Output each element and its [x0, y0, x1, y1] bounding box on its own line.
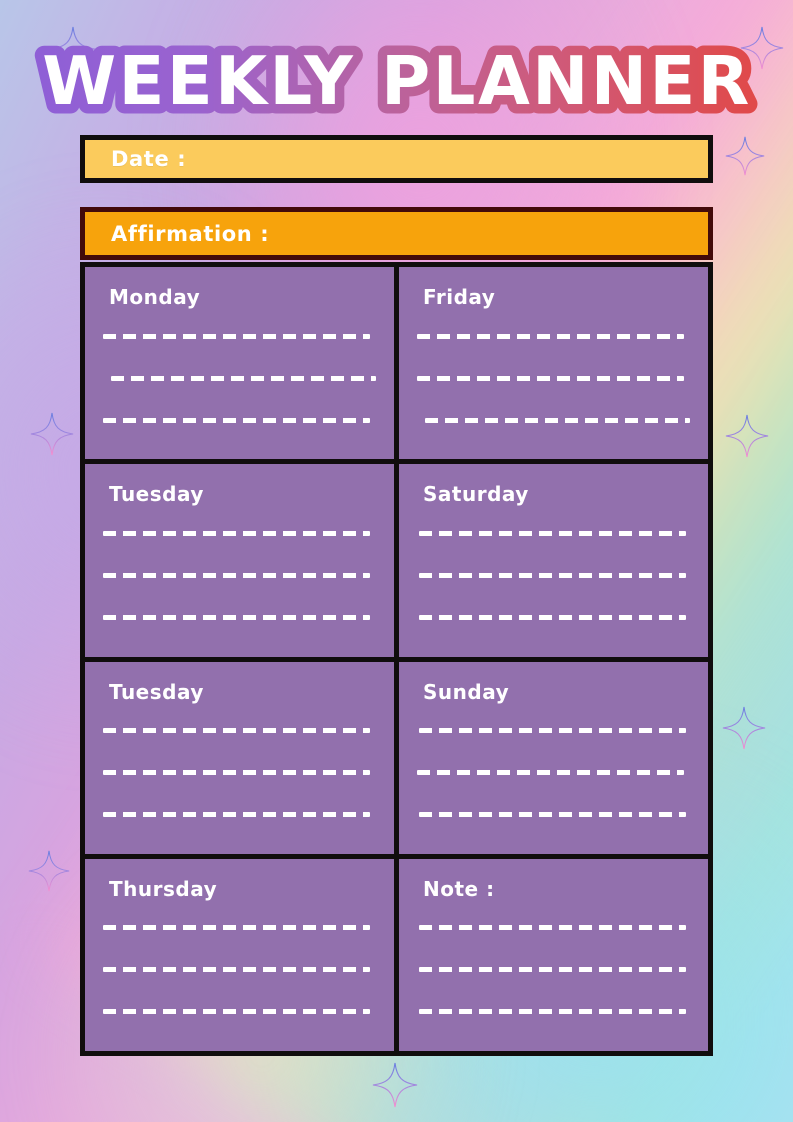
dashed-line: [419, 925, 686, 930]
cell-write-lines[interactable]: [101, 506, 378, 646]
dashed-line: [103, 728, 370, 733]
cell-write-lines[interactable]: [101, 309, 378, 449]
dashed-line: [419, 531, 686, 536]
dashed-line: [417, 334, 684, 339]
planner-cell-monday[interactable]: Monday: [85, 267, 394, 459]
dashed-line: [419, 615, 686, 620]
planner-cell-sunday[interactable]: Sunday: [399, 662, 708, 854]
dashed-line: [419, 1009, 686, 1014]
date-label: Date :: [111, 147, 186, 171]
dashed-line: [419, 728, 686, 733]
affirmation-field[interactable]: Affirmation :: [80, 207, 713, 260]
planner-cell-tuesday[interactable]: Tuesday: [85, 464, 394, 656]
cell-label: Saturday: [423, 482, 692, 506]
cell-write-lines[interactable]: [101, 901, 378, 1041]
dashed-line: [103, 925, 370, 930]
cell-write-lines[interactable]: [415, 704, 692, 844]
planner-cell-saturday[interactable]: Saturday: [399, 464, 708, 656]
dashed-line: [111, 376, 376, 381]
weekly-planner-page: WEEKLY PLANNER WEEKLY PLANNER Date : Aff…: [0, 0, 793, 1122]
cell-label: Tuesday: [109, 482, 378, 506]
dashed-line: [417, 376, 684, 381]
planner-cell-tuesday-duplicate[interactable]: Tuesday: [85, 662, 394, 854]
cell-label: Tuesday: [109, 680, 378, 704]
cell-write-lines[interactable]: [101, 704, 378, 844]
dashed-line: [103, 615, 370, 620]
planner-cell-friday[interactable]: Friday: [399, 267, 708, 459]
date-field[interactable]: Date :: [80, 135, 713, 183]
dashed-line: [419, 812, 686, 817]
dashed-line: [419, 573, 686, 578]
dashed-line: [103, 573, 370, 578]
cell-label: Monday: [109, 285, 378, 309]
dashed-line: [419, 967, 686, 972]
dashed-line: [103, 334, 370, 339]
cell-label: Sunday: [423, 680, 692, 704]
page-title-fill: WEEKLY PLANNER: [42, 42, 752, 120]
dashed-line: [103, 1009, 370, 1014]
planner-cell-thursday[interactable]: Thursday: [85, 859, 394, 1051]
dashed-line: [103, 967, 370, 972]
dashed-line: [103, 770, 370, 775]
cell-label: Thursday: [109, 877, 378, 901]
dashed-line: [103, 812, 370, 817]
affirmation-label: Affirmation :: [111, 222, 269, 246]
dashed-line: [103, 418, 370, 423]
dashed-line: [425, 418, 690, 423]
cell-write-lines[interactable]: [415, 309, 692, 449]
dashed-line: [417, 770, 684, 775]
dashed-line: [103, 531, 370, 536]
cell-write-lines[interactable]: [415, 506, 692, 646]
page-title: WEEKLY PLANNER WEEKLY PLANNER: [0, 36, 793, 110]
cell-label: Note :: [423, 877, 692, 901]
cell-write-lines[interactable]: [415, 901, 692, 1041]
planner-grid: Monday Friday Tuesday Satu: [80, 262, 713, 1056]
cell-label: Friday: [423, 285, 692, 309]
planner-cell-note[interactable]: Note :: [399, 859, 708, 1051]
